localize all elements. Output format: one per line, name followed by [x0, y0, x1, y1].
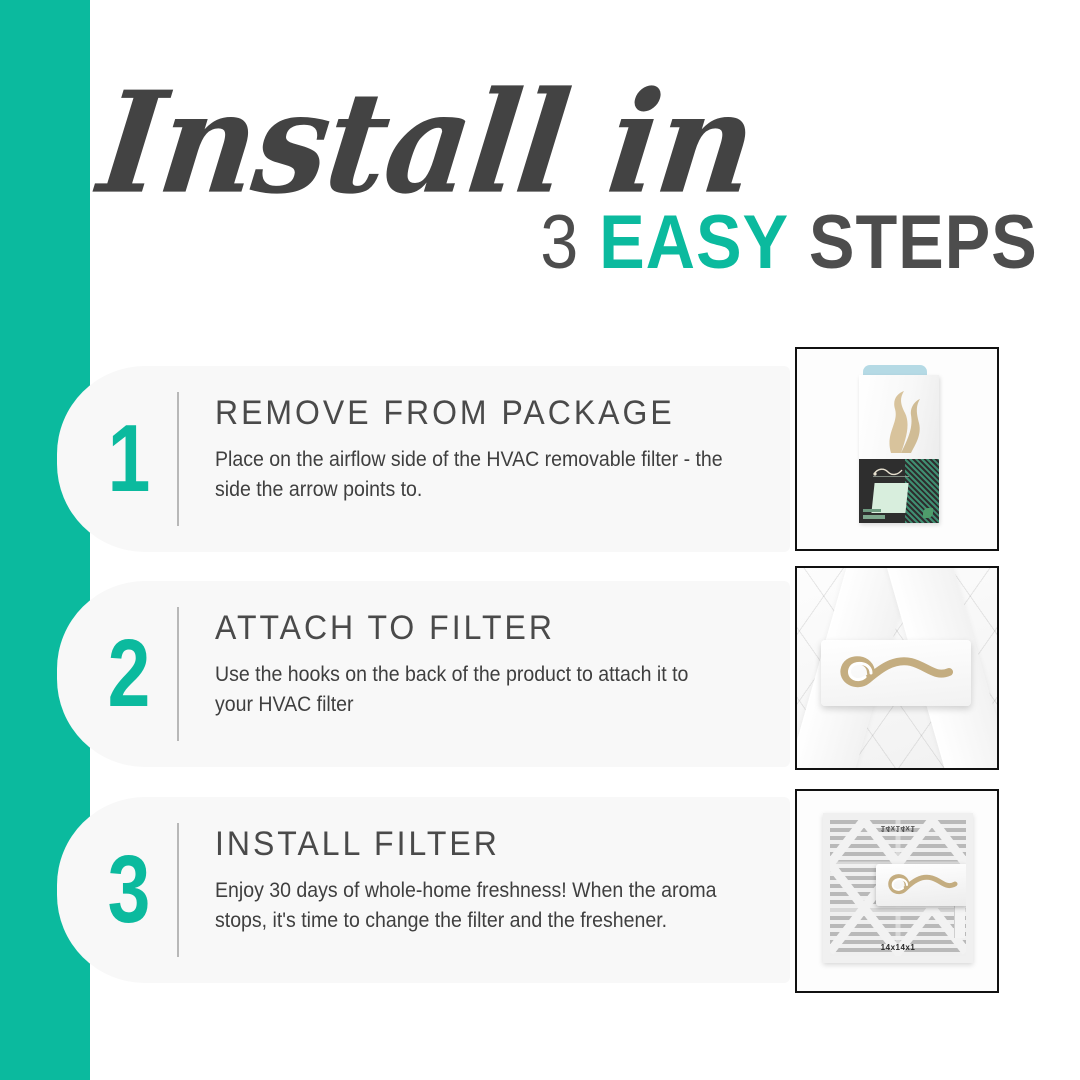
- package-strip-2-icon: [863, 509, 881, 512]
- step-body-3: INSTALL FILTER Enjoy 30 days of whole-ho…: [179, 797, 790, 983]
- step-heading-1: REMOVE FROM PACKAGE: [215, 396, 731, 432]
- subtitle-tail-word: STEPS: [809, 200, 1038, 285]
- step-photo-3: 14x14x1 14x14x1: [795, 789, 999, 993]
- step-description-1: Place on the airflow side of the HVAC re…: [215, 445, 726, 505]
- step-description-2: Use the hooks on the back of the product…: [215, 660, 726, 720]
- package-smoke-wave-icon: [865, 389, 933, 455]
- installed-swirl-logo-icon: [882, 869, 962, 901]
- step-card-3: 3 INSTALL FILTER Enjoy 30 days of whole-…: [57, 797, 790, 983]
- step-number-2: 2: [69, 581, 165, 767]
- hvac-filter-icon: 14x14x1 14x14x1: [823, 813, 973, 963]
- package-photo: [797, 349, 997, 549]
- package-strip-1-icon: [863, 515, 885, 519]
- package-brand-logo-icon: [871, 465, 913, 477]
- step-body-1: REMOVE FROM PACKAGE Place on the airflow…: [179, 366, 790, 552]
- freshener-swirl-logo-icon: [831, 648, 961, 698]
- page-subtitle: 3 EASY STEPS: [541, 205, 1038, 281]
- step-number-3: 3: [69, 797, 165, 983]
- installed-filter-photo: 14x14x1 14x14x1: [797, 791, 997, 991]
- package-box-icon: [859, 375, 939, 523]
- package-label-band: [859, 459, 939, 523]
- step-number-1: 1: [69, 366, 165, 552]
- package-leaf-icon: [923, 508, 933, 518]
- filter-size-label-top: 14x14x1: [830, 824, 966, 833]
- subtitle-number: 3: [541, 200, 580, 285]
- installed-freshener-icon: [876, 864, 968, 906]
- filter-size-label-bottom: 14x14x1: [830, 943, 966, 952]
- step-card-2: 2 ATTACH TO FILTER Use the hooks on the …: [57, 581, 790, 767]
- freshener-device-icon: [821, 640, 971, 706]
- step-card-1: 1 REMOVE FROM PACKAGE Place on the airfl…: [57, 366, 790, 552]
- step-photo-1: [795, 347, 999, 551]
- subtitle-accent-word: EASY: [599, 200, 789, 285]
- step-photo-2: [795, 566, 999, 770]
- step-heading-2: ATTACH TO FILTER: [215, 611, 731, 647]
- step-body-2: ATTACH TO FILTER Use the hooks on the ba…: [179, 581, 790, 767]
- step-description-3: Enjoy 30 days of whole-home freshness! W…: [215, 876, 726, 936]
- page-title-script: Install in: [93, 74, 761, 214]
- attach-photo: [797, 568, 997, 768]
- header: Install in 3 EASY STEPS: [90, 0, 1080, 330]
- step-heading-3: INSTALL FILTER: [215, 827, 731, 863]
